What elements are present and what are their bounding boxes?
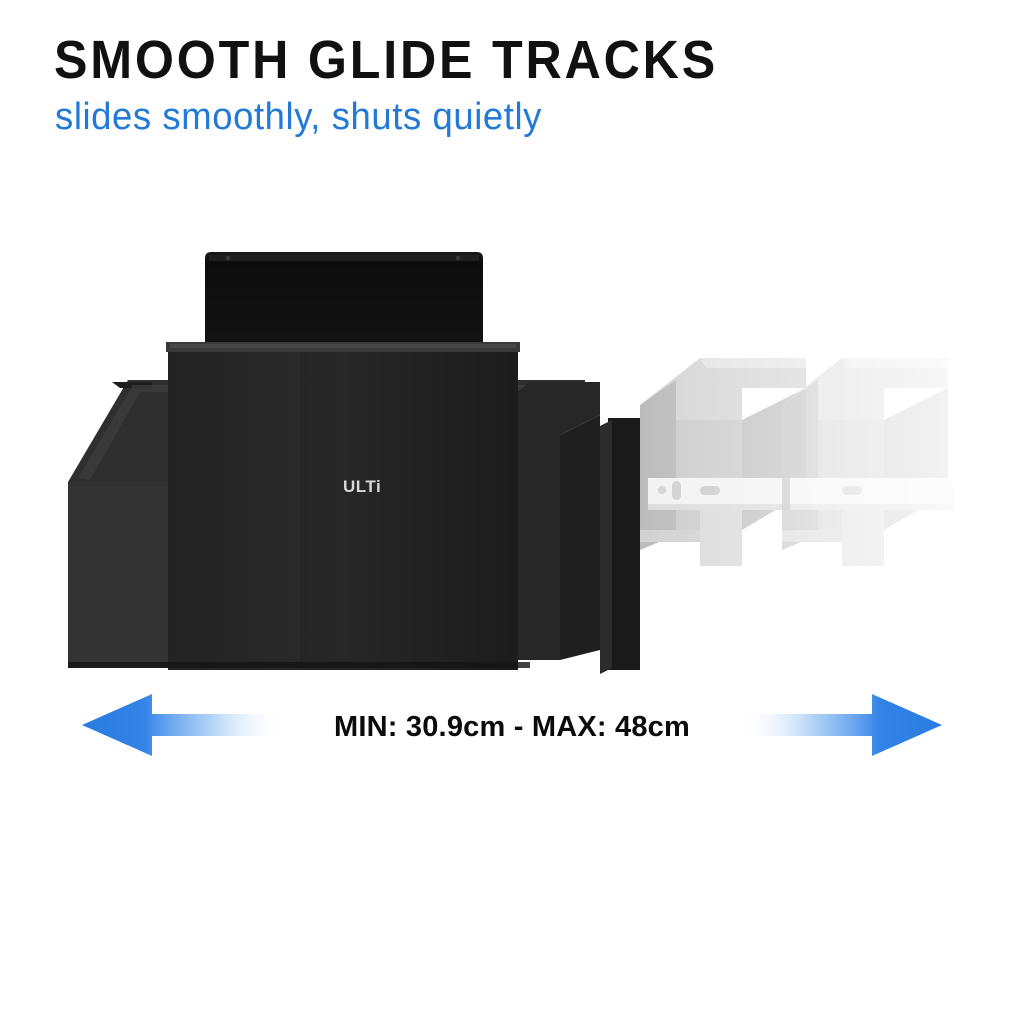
page-subtitle: slides smoothly, shuts quietly [55, 98, 542, 136]
shell-bottom-edge [68, 662, 530, 668]
drawer-back-panel [205, 252, 483, 342]
brand-logo-text: ULTi [343, 477, 381, 496]
drawer-front-face: ULTi [166, 342, 520, 670]
ghost-extension-group [612, 230, 957, 700]
product-illustration: ULTi [0, 230, 1024, 700]
page-title: SMOOTH GLIDE TRACKS [54, 33, 718, 87]
infographic-page: SMOOTH GLIDE TRACKS slides smoothly, shu… [0, 0, 1024, 1024]
dimension-row: MIN: 30.9cm - MAX: 48cm [0, 686, 1024, 768]
dimension-label: MIN: 30.9cm - MAX: 48cm [0, 686, 1024, 768]
